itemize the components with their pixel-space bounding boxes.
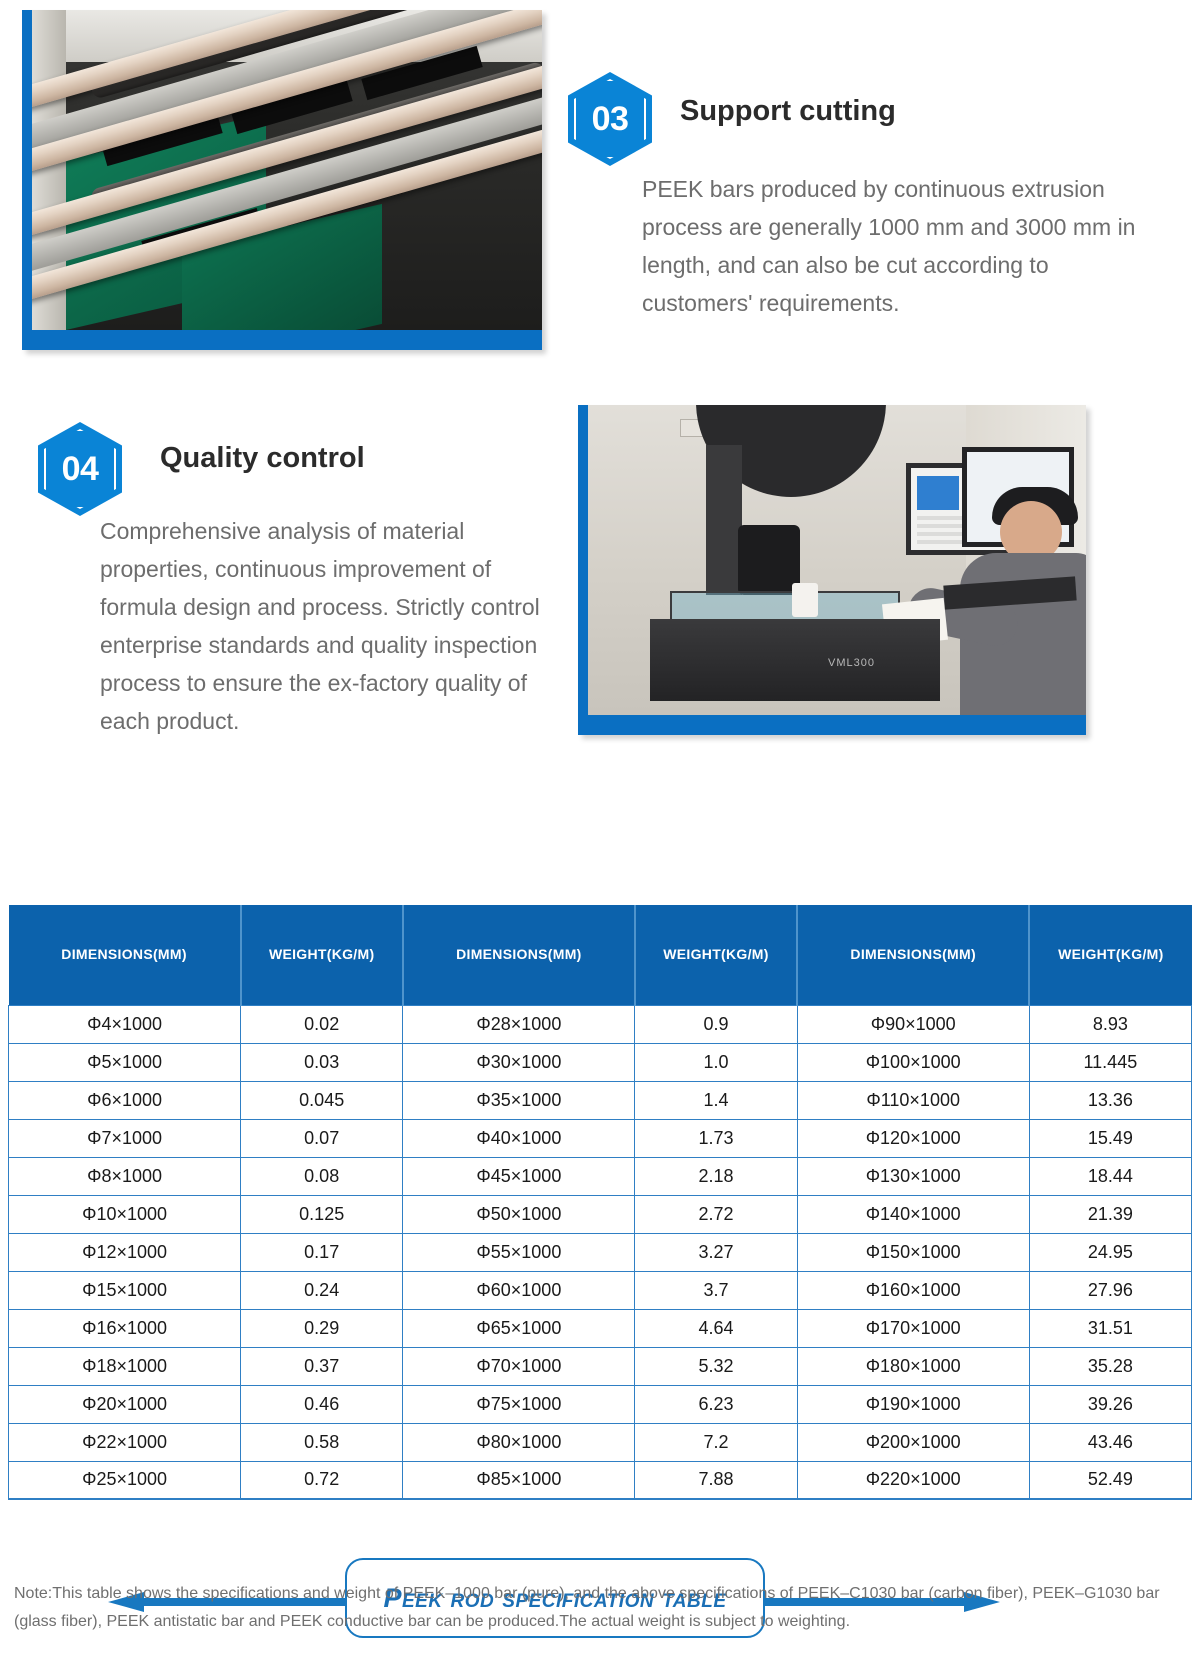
table-row: Φ18×10000.37Φ70×10005.32Φ180×100035.28 <box>9 1347 1192 1385</box>
table-cell: 0.03 <box>241 1043 403 1081</box>
photo-quality-control: VML300 <box>578 405 1086 735</box>
table-row: Φ22×10000.58Φ80×10007.2Φ200×100043.46 <box>9 1423 1192 1461</box>
table-cell: 0.02 <box>241 1005 403 1043</box>
table-cell: 7.88 <box>635 1461 797 1499</box>
table-row: Φ8×10000.08Φ45×10002.18Φ130×100018.44 <box>9 1157 1192 1195</box>
table-row: Φ16×10000.29Φ65×10004.64Φ170×100031.51 <box>9 1309 1192 1347</box>
table-cell: Φ110×1000 <box>797 1081 1029 1119</box>
table-cell: 0.58 <box>241 1423 403 1461</box>
table-cell: Φ50×1000 <box>403 1195 635 1233</box>
table-cell: 52.49 <box>1029 1461 1191 1499</box>
table-cell: Φ150×1000 <box>797 1233 1029 1271</box>
table-cell: 1.73 <box>635 1119 797 1157</box>
table-cell: Φ55×1000 <box>403 1233 635 1271</box>
table-cell: 0.46 <box>241 1385 403 1423</box>
table-cell: Φ200×1000 <box>797 1423 1029 1461</box>
table-cell: Φ15×1000 <box>9 1271 241 1309</box>
table-cell: 0.24 <box>241 1271 403 1309</box>
spec-sheet-page: 03 Support cutting PEEK bars produced by… <box>0 0 1200 1668</box>
table-cell: 43.46 <box>1029 1423 1191 1461</box>
table-cell: Φ12×1000 <box>9 1233 241 1271</box>
table-cell: Φ4×1000 <box>9 1005 241 1043</box>
table-cell: 8.93 <box>1029 1005 1191 1043</box>
table-body: Φ4×10000.02Φ28×10000.9Φ90×10008.93Φ5×100… <box>9 1005 1192 1499</box>
column-header: WEIGHT(KG/M) <box>1029 905 1191 1005</box>
table-cell: 0.37 <box>241 1347 403 1385</box>
table-cell: Φ90×1000 <box>797 1005 1029 1043</box>
table-cell: Φ180×1000 <box>797 1347 1029 1385</box>
table-cell: 2.72 <box>635 1195 797 1233</box>
table-cell: Φ45×1000 <box>403 1157 635 1195</box>
table-cell: Φ160×1000 <box>797 1271 1029 1309</box>
table-cell: Φ8×1000 <box>9 1157 241 1195</box>
table-cell: 3.7 <box>635 1271 797 1309</box>
table-row: Φ10×10000.125Φ50×10002.72Φ140×100021.39 <box>9 1195 1192 1233</box>
table-cell: 13.36 <box>1029 1081 1191 1119</box>
column-header: DIMENSIONS(MM) <box>797 905 1029 1005</box>
table-cell: 0.29 <box>241 1309 403 1347</box>
table-row: Φ6×10000.045Φ35×10001.4Φ110×100013.36 <box>9 1081 1192 1119</box>
table-cell: 0.125 <box>241 1195 403 1233</box>
table-cell: Φ85×1000 <box>403 1461 635 1499</box>
section-quality-control: 04 Quality control Comprehensive analysi… <box>0 390 1200 760</box>
table-cell: 7.2 <box>635 1423 797 1461</box>
table-row: Φ7×10000.07Φ40×10001.73Φ120×100015.49 <box>9 1119 1192 1157</box>
section-title: Quality control <box>160 442 365 475</box>
table-cell: 18.44 <box>1029 1157 1191 1195</box>
table-cell: 6.23 <box>635 1385 797 1423</box>
table-cell: 0.9 <box>635 1005 797 1043</box>
table-cell: 24.95 <box>1029 1233 1191 1271</box>
table-cell: 11.445 <box>1029 1043 1191 1081</box>
table-cell: Φ100×1000 <box>797 1043 1029 1081</box>
table-cell: 35.28 <box>1029 1347 1191 1385</box>
table-cell: 0.17 <box>241 1233 403 1271</box>
table-cell: Φ22×1000 <box>9 1423 241 1461</box>
section-title: Support cutting <box>680 95 896 128</box>
column-header: WEIGHT(KG/M) <box>241 905 403 1005</box>
table-cell: Φ28×1000 <box>403 1005 635 1043</box>
table-row: Φ25×10000.72Φ85×10007.88Φ220×100052.49 <box>9 1461 1192 1499</box>
table-cell: Φ25×1000 <box>9 1461 241 1499</box>
lab-illustration: VML300 <box>588 405 1086 715</box>
section-number-badge-03: 03 <box>568 72 652 166</box>
table-cell: 4.64 <box>635 1309 797 1347</box>
table-cell: Φ20×1000 <box>9 1385 241 1423</box>
table-cell: 5.32 <box>635 1347 797 1385</box>
table-cell: Φ16×1000 <box>9 1309 241 1347</box>
table-cell: Φ18×1000 <box>9 1347 241 1385</box>
table-cell: Φ30×1000 <box>403 1043 635 1081</box>
table-cell: Φ6×1000 <box>9 1081 241 1119</box>
table-cell: Φ170×1000 <box>797 1309 1029 1347</box>
table-cell: Φ220×1000 <box>797 1461 1029 1499</box>
table-row: Φ15×10000.24Φ60×10003.7Φ160×100027.96 <box>9 1271 1192 1309</box>
table-cell: 21.39 <box>1029 1195 1191 1233</box>
table-note: Note:This table shows the specifications… <box>14 1580 1186 1636</box>
section-number-badge-04: 04 <box>38 422 122 516</box>
table-cell: Φ70×1000 <box>403 1347 635 1385</box>
machine-model-label: VML300 <box>828 657 875 669</box>
table-row: Φ12×10000.17Φ55×10003.27Φ150×100024.95 <box>9 1233 1192 1271</box>
table-cell: Φ120×1000 <box>797 1119 1029 1157</box>
table-cell: Φ5×1000 <box>9 1043 241 1081</box>
table-cell: 0.045 <box>241 1081 403 1119</box>
table-header-row: DIMENSIONS(MM) WEIGHT(KG/M) DIMENSIONS(M… <box>9 905 1192 1005</box>
table-cell: 3.27 <box>635 1233 797 1271</box>
column-header: DIMENSIONS(MM) <box>9 905 241 1005</box>
rods-illustration <box>32 10 542 330</box>
photo-support-cutting <box>22 10 542 350</box>
table-cell: Φ130×1000 <box>797 1157 1029 1195</box>
table-cell: Φ65×1000 <box>403 1309 635 1347</box>
table-cell: Φ140×1000 <box>797 1195 1029 1233</box>
table-row: Φ20×10000.46Φ75×10006.23Φ190×100039.26 <box>9 1385 1192 1423</box>
table-cell: Φ35×1000 <box>403 1081 635 1119</box>
table-cell: Φ60×1000 <box>403 1271 635 1309</box>
table-row: Φ5×10000.03Φ30×10001.0Φ100×100011.445 <box>9 1043 1192 1081</box>
table-cell: Φ7×1000 <box>9 1119 241 1157</box>
table-cell: 2.18 <box>635 1157 797 1195</box>
column-header: WEIGHT(KG/M) <box>635 905 797 1005</box>
table-cell: 31.51 <box>1029 1309 1191 1347</box>
table-cell: 1.4 <box>635 1081 797 1119</box>
table-cell: Φ75×1000 <box>403 1385 635 1423</box>
table-cell: 0.07 <box>241 1119 403 1157</box>
table-cell: 0.08 <box>241 1157 403 1195</box>
table-cell: 15.49 <box>1029 1119 1191 1157</box>
section-body: PEEK bars produced by continuous extrusi… <box>642 170 1162 322</box>
table-cell: 0.72 <box>241 1461 403 1499</box>
peek-rod-specification-table: DIMENSIONS(MM) WEIGHT(KG/M) DIMENSIONS(M… <box>8 905 1192 1500</box>
table-cell: 1.0 <box>635 1043 797 1081</box>
section-number: 03 <box>592 100 629 139</box>
section-body: Comprehensive analysis of material prope… <box>100 512 570 740</box>
table-cell: Φ190×1000 <box>797 1385 1029 1423</box>
section-number: 04 <box>62 450 99 489</box>
table-cell: 39.26 <box>1029 1385 1191 1423</box>
table-cell: Φ40×1000 <box>403 1119 635 1157</box>
column-header: DIMENSIONS(MM) <box>403 905 635 1005</box>
table-title-banner: Peek rod specification table <box>0 780 1200 875</box>
table-cell: Φ80×1000 <box>403 1423 635 1461</box>
table-cell: Φ10×1000 <box>9 1195 241 1233</box>
table-row: Φ4×10000.02Φ28×10000.9Φ90×10008.93 <box>9 1005 1192 1043</box>
section-support-cutting: 03 Support cutting PEEK bars produced by… <box>0 0 1200 380</box>
table-cell: 27.96 <box>1029 1271 1191 1309</box>
